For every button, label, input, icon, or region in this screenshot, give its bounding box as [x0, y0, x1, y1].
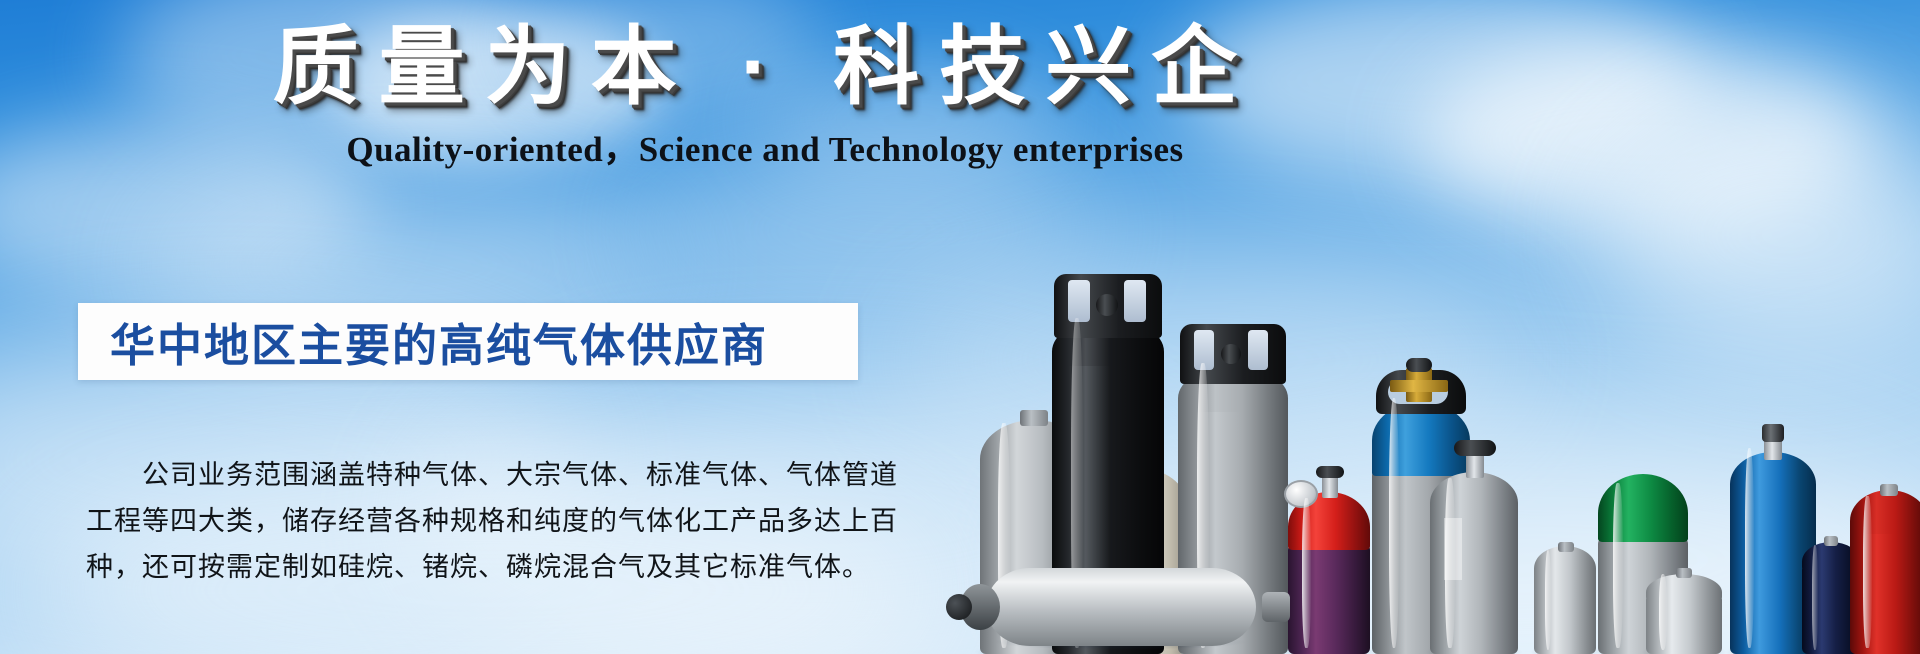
cylinder-highlight	[1302, 498, 1311, 648]
cylinder-highlight	[1545, 550, 1552, 650]
guard-cap-window	[1124, 280, 1146, 322]
cylinder-body	[1646, 592, 1722, 654]
cylinder-green-band	[1598, 474, 1688, 542]
cylinder-highlight	[1863, 496, 1872, 648]
paragraph-line-2: 工程等四大类，储存经营各种规格和纯度的气体化工产品多达上百	[86, 498, 886, 544]
tagline-text: 华中地区主要的高纯气体供应商	[78, 309, 768, 374]
cylinder-shoulder	[1430, 472, 1518, 516]
tank-nose	[1262, 592, 1290, 622]
guard-cap-window	[1068, 280, 1090, 322]
cylinder-body	[1288, 542, 1370, 654]
cylinder-highlight	[1812, 545, 1818, 650]
tank-body	[986, 568, 1256, 646]
cylinder-lying-tank	[960, 568, 1280, 646]
cylinder-aluminium-small	[1534, 542, 1596, 654]
valve-knob-icon	[1096, 294, 1118, 316]
valve-knob-icon	[1600, 408, 1646, 426]
cylinder-highlight	[1445, 478, 1455, 648]
cylinder-red-bottle-right	[1850, 484, 1920, 654]
paragraph-line-1: 公司业务范围涵盖特种气体、大宗气体、标准气体、气体管道	[86, 452, 886, 498]
cylinder-highlight	[1659, 574, 1667, 650]
cylinder-neck	[1880, 484, 1898, 496]
cylinder-highlight	[1745, 448, 1754, 648]
cylinder-highlight	[1389, 398, 1400, 648]
cylinder-grey-medium-valve	[1430, 436, 1518, 654]
brass-valve-cross	[1390, 380, 1448, 392]
hero-banner: 质量为本 · 科技兴企 Quality-oriented，Science and…	[0, 0, 1920, 654]
valve-stem	[1614, 420, 1632, 450]
cylinder-aluminium-squat	[1646, 568, 1722, 654]
pressure-gauge-icon	[1284, 480, 1318, 508]
valve-knob-icon	[1316, 466, 1344, 478]
cylinder-body	[1850, 522, 1920, 654]
gas-cylinder-group	[940, 0, 1920, 654]
valve-knob-icon	[1406, 358, 1432, 372]
valve-knob-icon	[1454, 440, 1496, 456]
cylinder-shoulder	[1850, 490, 1920, 534]
cylinder-neck	[1676, 568, 1692, 578]
paragraph-line-3: 种，还可按需定制如硅烷、锗烷、磷烷混合气及其它标准气体。	[86, 544, 886, 590]
valve-cap-icon	[1762, 424, 1784, 442]
cylinder-highlight	[1613, 483, 1623, 648]
tagline-band: 华中地区主要的高纯气体供应商	[78, 303, 858, 380]
valve-knob-icon	[1221, 344, 1241, 364]
description-paragraph: 公司业务范围涵盖特种气体、大宗气体、标准气体、气体管道 工程等四大类，储存经营各…	[86, 452, 886, 590]
cylinder-neck	[1558, 542, 1574, 552]
tank-valve-knob-icon	[946, 594, 972, 620]
cylinder-neck	[1824, 536, 1838, 546]
cylinder-red-purple-small	[1288, 464, 1370, 654]
cylinder-body	[1534, 568, 1596, 654]
cylinder-neck	[1020, 410, 1048, 426]
guard-cap-window	[1248, 330, 1268, 370]
